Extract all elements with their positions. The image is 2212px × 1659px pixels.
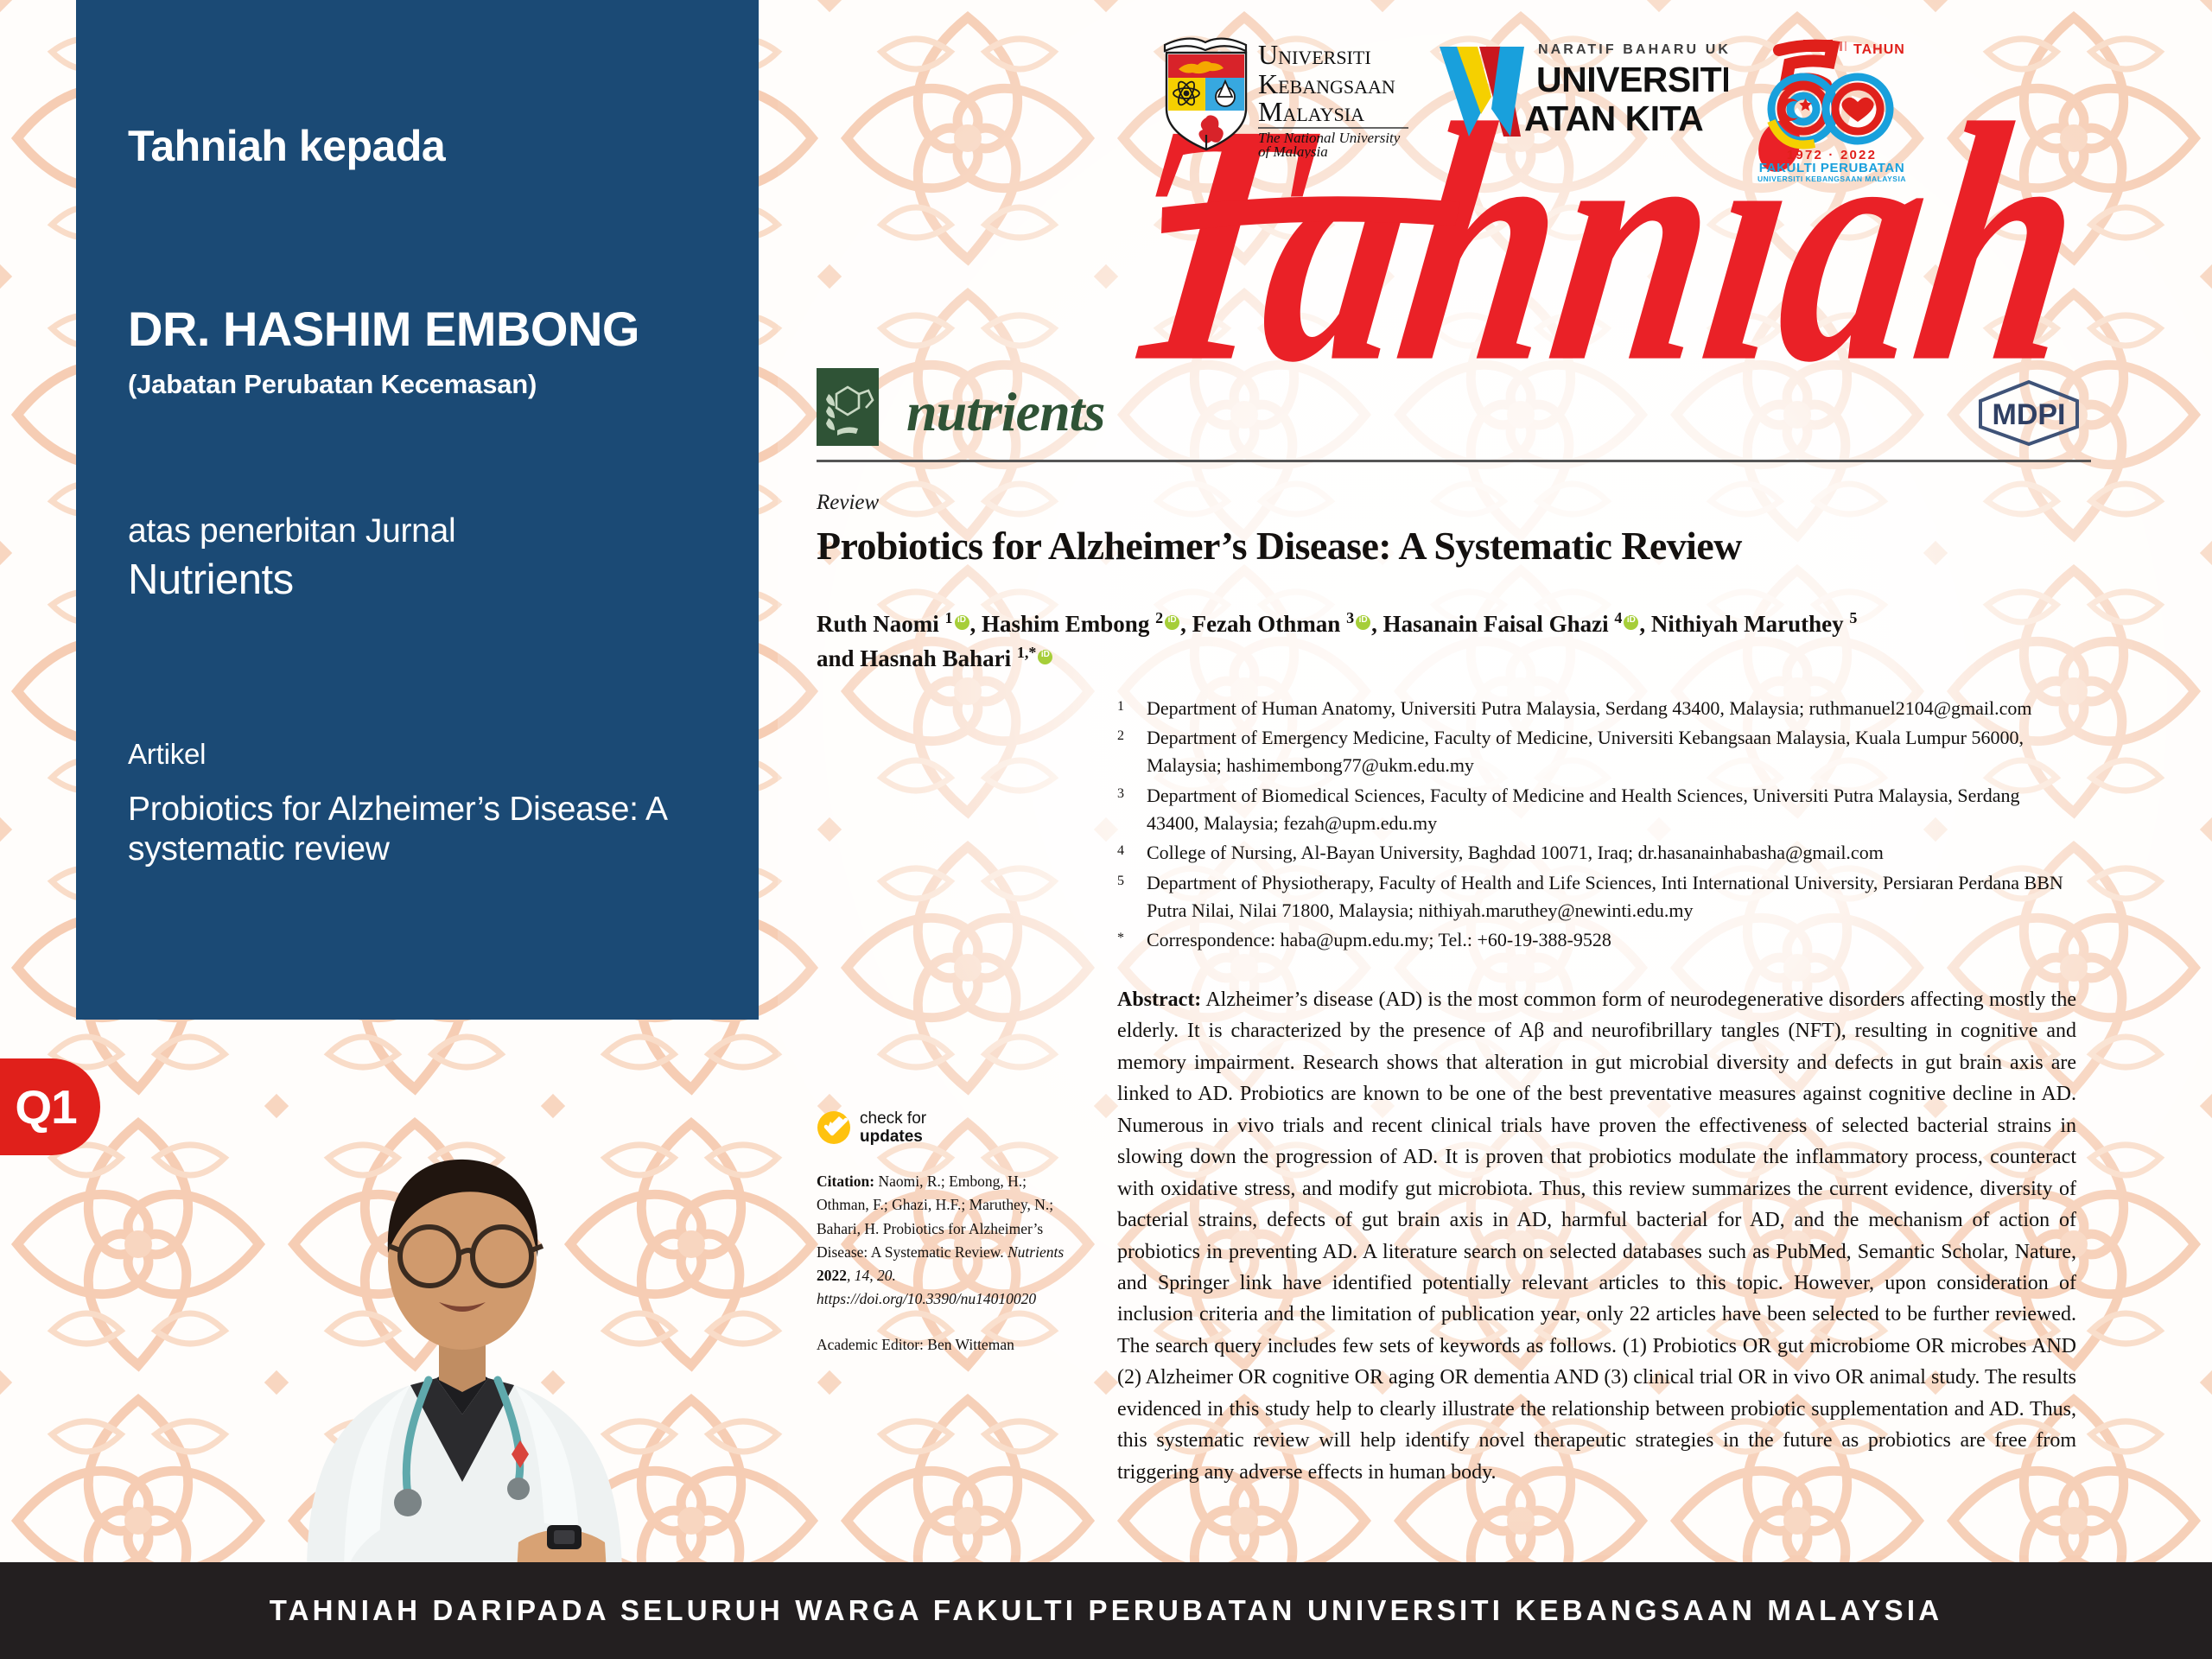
abstract-section: Abstract: Alzheimer’s disease (AD) is th… (1117, 984, 2076, 1489)
affiliation-number: 4 (1117, 839, 1147, 867)
anniv-university: UNIVERSITI KEBANGSAAN MALAYSIA (1758, 175, 1906, 183)
check-updates-line1: check for (860, 1109, 926, 1128)
author-1: Ruth Naomi (817, 611, 945, 637)
affiliation-number: 3 (1117, 782, 1147, 838)
anniversary-50-logo: TAHUN 1972 · 2022 FAKULTI PERUBATAN UNIV… (1750, 19, 1914, 183)
logo-bar: UNIVERSITI KEBANGSAAN MALAYSIA The Natio… (0, 0, 2212, 190)
universiti-watan-kita-logo: NARATIF BAHARU UKM UNIVERSITI ATAN KITA (1434, 33, 1728, 145)
abstract-body: Alzheimer’s disease (AD) is the most com… (1117, 988, 2076, 1484)
author-6: and Hasnah Bahari (817, 645, 1017, 671)
affiliation-text: Department of Human Anatomy, Universiti … (1147, 695, 2076, 722)
affiliation-row: 2 Department of Emergency Medicine, Facu… (1117, 724, 2076, 780)
orcid-icon[interactable] (1356, 615, 1370, 630)
orcid-icon[interactable] (1038, 650, 1052, 664)
article-type-label: Review (817, 491, 2091, 515)
artikel-label: Artikel (128, 738, 759, 771)
publication-subtitle: atas penerbitan Jurnal (128, 512, 759, 550)
article-title-sidebar: Probiotics for Alzheimer’s Disease: A sy… (128, 790, 715, 869)
bottom-banner-text: TAHNIAH DARIPADA SELURUH WARGA FAKULTI P… (270, 1594, 1943, 1627)
anniv-tahun: TAHUN (1853, 42, 1905, 57)
ukm-line2: EBANGSAAN (1278, 76, 1395, 98)
ukm-line3: ALAYSIA (1282, 104, 1364, 125)
affiliation-number: * (1117, 926, 1147, 954)
citation-label: Citation: (817, 1173, 874, 1190)
citation-year: 2022 (817, 1267, 847, 1284)
affiliation-text: Correspondence: haba@upm.edu.my; Tel.: +… (1147, 926, 2076, 954)
nutrients-logo-icon (817, 368, 879, 446)
author-list: Ruth Naomi 1, Hashim Embong 2, Fezah Oth… (817, 607, 1992, 676)
academic-editor: Academic Editor: Ben Witteman (817, 1333, 1076, 1357)
affiliation-row: 1 Department of Human Anatomy, Universit… (1117, 695, 2076, 722)
affiliation-number: 2 (1117, 724, 1147, 780)
citation-sidebar: check for updates Citation: Naomi, R.; E… (817, 1109, 1076, 1357)
affiliation-row: * Correspondence: haba@upm.edu.my; Tel.:… (1117, 926, 2076, 954)
affiliation-row: 5 Department of Physiotherapy, Faculty o… (1117, 869, 2076, 925)
affiliation-list: 1 Department of Human Anatomy, Universit… (1117, 695, 2076, 955)
quartile-badge: Q1 (0, 1058, 100, 1155)
honoree-photo (259, 1076, 665, 1573)
affiliation-row: 3 Department of Biomedical Sciences, Fac… (1117, 782, 2076, 838)
uwk-kicker: NARATIF BAHARU UKM (1538, 42, 1728, 57)
honoree-name: DR. HASHIM EMBONG (128, 301, 759, 357)
author-4: Hasanain Faisal Ghazi (1383, 611, 1615, 637)
honoree-department: (Jabatan Perubatan Kecemasan) (128, 369, 759, 400)
check-circle-icon (817, 1110, 851, 1145)
author-3: Fezah Othman (1192, 611, 1347, 637)
uwk-line1: UNIVERSITI (1536, 60, 1728, 99)
journal-name: Nutrients (128, 556, 759, 604)
author-2: Hashim Embong (982, 611, 1155, 637)
paper-title: Probiotics for Alzheimer’s Disease: A Sy… (817, 524, 2091, 569)
ukm-line1: NIVERSITI (1278, 47, 1371, 68)
orcid-icon[interactable] (1624, 615, 1638, 630)
affiliation-text: Department of Physiotherapy, Faculty of … (1147, 869, 2076, 925)
svg-text:UNIVERSITI: UNIVERSITI (1258, 39, 1371, 70)
anniv-faculty: FAKULTI PERUBATAN (1759, 161, 1905, 175)
citation-volume: , 14, 20. https://doi.org/10.3390/nu1401… (817, 1267, 1036, 1307)
orcid-icon[interactable] (955, 615, 969, 630)
orcid-icon[interactable] (1165, 615, 1179, 630)
author-5: Nithiyah Maruthey (1651, 611, 1850, 637)
mdpi-logo: MDPI (1974, 378, 2084, 448)
affiliation-text: Department of Emergency Medicine, Facult… (1147, 724, 2076, 780)
check-updates-line2: updates (860, 1128, 926, 1146)
affiliation-number: 1 (1117, 695, 1147, 722)
svg-text:MALAYSIA: MALAYSIA (1258, 96, 1364, 127)
svg-text:KEBANGSAAN: KEBANGSAAN (1258, 68, 1395, 99)
citation-text: Citation: Naomi, R.; Embong, H.; Othman,… (817, 1170, 1076, 1311)
nutrients-wordmark: nutrients (906, 380, 1104, 444)
affiliation-text: College of Nursing, Al-Bayan University,… (1147, 839, 2076, 867)
svg-text:MDPI: MDPI (1993, 398, 2066, 431)
uwk-line2: ATAN KITA (1524, 99, 1703, 138)
quartile-badge-label: Q1 (3, 1079, 76, 1135)
journal-header: nutrients MDPI (817, 363, 2091, 472)
affiliation-text: Department of Biomedical Sciences, Facul… (1147, 782, 2076, 838)
paper-first-page: nutrients MDPI Review Probiotics for Alz… (817, 363, 2091, 1564)
affiliation-number: 5 (1117, 869, 1147, 925)
bottom-banner: TAHNIAH DARIPADA SELURUH WARGA FAKULTI P… (0, 1562, 2212, 1659)
ukm-tagline2: of Malaysia (1258, 143, 1328, 158)
ukm-logo: UNIVERSITI KEBANGSAAN MALAYSIA The Natio… (1156, 24, 1415, 158)
check-for-updates-badge[interactable]: check for updates (817, 1109, 1076, 1147)
abstract-label: Abstract: (1117, 988, 1201, 1011)
affiliation-row: 4 College of Nursing, Al-Bayan Universit… (1117, 839, 2076, 867)
citation-journal: Nutrients (1007, 1243, 1064, 1261)
journal-header-rule (817, 460, 2091, 462)
